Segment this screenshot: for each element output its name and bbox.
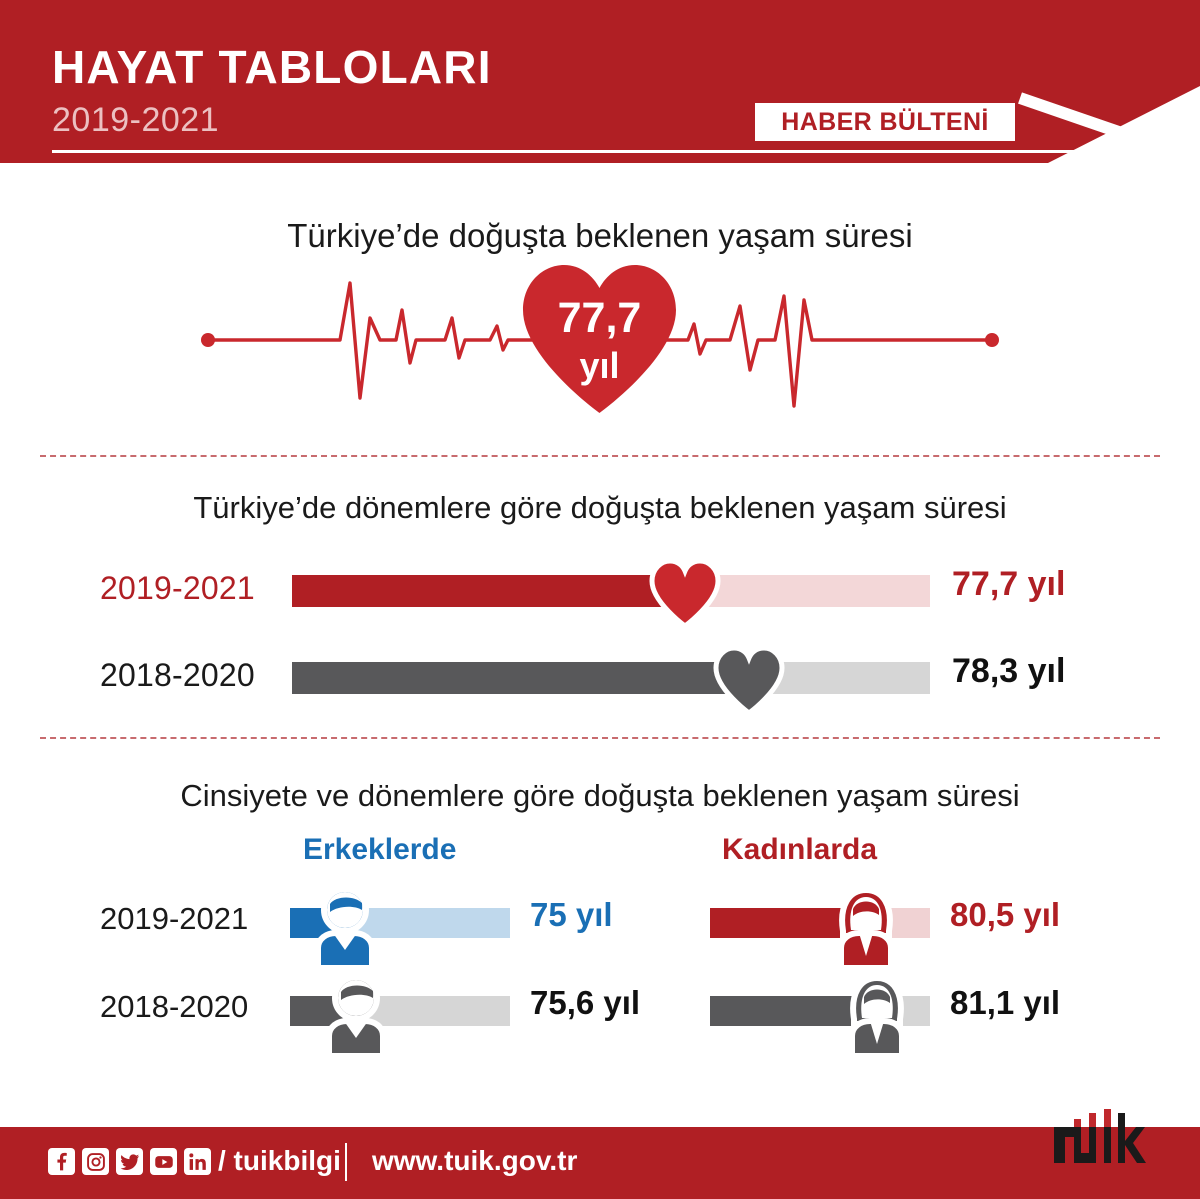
heart-marker-icon	[713, 645, 785, 715]
period-row-value: 77,7 yıl	[952, 565, 1065, 604]
gender-bar-track-male	[290, 908, 510, 938]
section-divider-2	[40, 737, 1160, 739]
youtube-icon[interactable]	[150, 1148, 177, 1175]
hero-unit: yıl	[517, 345, 682, 387]
gender-row-value-female: 80,5 yıl	[950, 896, 1060, 934]
period-bar-track	[292, 575, 930, 607]
heart-marker-icon	[649, 558, 721, 628]
tuik-logo	[1048, 1109, 1168, 1171]
gender-bar-row: 2018-2020 75,6 yıl	[0, 986, 1200, 1032]
website-url[interactable]: www.tuik.gov.tr	[372, 1145, 577, 1177]
period-bar-row: 2018-2020 78,3 yıl	[0, 653, 1200, 703]
page-subtitle: 2019-2021	[52, 101, 219, 140]
gender-row-label: 2018-2020	[100, 989, 280, 1025]
gender-bar-row: 2019-2021 75 yıl	[0, 898, 1200, 944]
period-bar-row: 2019-2021 77,7 yıl	[0, 566, 1200, 616]
section-divider-1	[40, 455, 1160, 457]
bulletin-badge-label: HABER BÜLTENİ	[781, 108, 989, 137]
gender-row-value-male: 75 yıl	[530, 896, 613, 934]
period-bar-fill	[292, 662, 749, 694]
page-title: HAYAT TABLOLARI	[52, 40, 492, 94]
bulletin-badge: HABER BÜLTENİ	[755, 103, 1015, 141]
footer-separator	[345, 1143, 347, 1181]
twitter-icon[interactable]	[116, 1148, 143, 1175]
gender-row-value-female: 81,1 yıl	[950, 984, 1060, 1022]
header-rule	[52, 150, 1112, 153]
gender-bar-track-female	[710, 908, 930, 938]
instagram-icon[interactable]	[82, 1148, 109, 1175]
period-bar-track	[292, 662, 930, 694]
periods-title: Türkiye’de dönemlere göre doğuşta beklen…	[0, 490, 1200, 526]
gender-title: Cinsiyete ve dönemlere göre doğuşta bekl…	[0, 778, 1200, 814]
period-bar-fill	[292, 575, 685, 607]
gender-row-value-male: 75,6 yıl	[530, 984, 640, 1022]
facebook-icon[interactable]	[48, 1148, 75, 1175]
gender-heading-male: Erkeklerde	[303, 833, 456, 867]
gender-bar-track-male	[290, 996, 510, 1026]
hero-value: 77,7	[517, 297, 682, 341]
gender-heading-female: Kadınlarda	[722, 833, 877, 867]
page-footer: / tuikbilgi www.tuik.gov.tr	[0, 1127, 1200, 1199]
female-person-icon	[840, 972, 914, 1058]
social-handle[interactable]: / tuikbilgi	[218, 1145, 341, 1177]
gender-bar-track-female	[710, 996, 930, 1026]
period-row-value: 78,3 yıl	[952, 652, 1065, 691]
gender-row-label: 2019-2021	[100, 901, 280, 937]
period-row-label: 2018-2020	[100, 657, 280, 694]
male-person-icon	[319, 972, 393, 1058]
period-row-label: 2019-2021	[100, 570, 280, 607]
hero-title: Türkiye’de doğuşta beklenen yaşam süresi	[0, 217, 1200, 255]
female-person-icon	[829, 884, 903, 970]
linkedin-icon[interactable]	[184, 1148, 211, 1175]
male-person-icon	[308, 884, 382, 970]
page-header: HAYAT TABLOLARI 2019-2021 HABER BÜLTENİ	[0, 0, 1200, 163]
social-links	[48, 1148, 211, 1175]
